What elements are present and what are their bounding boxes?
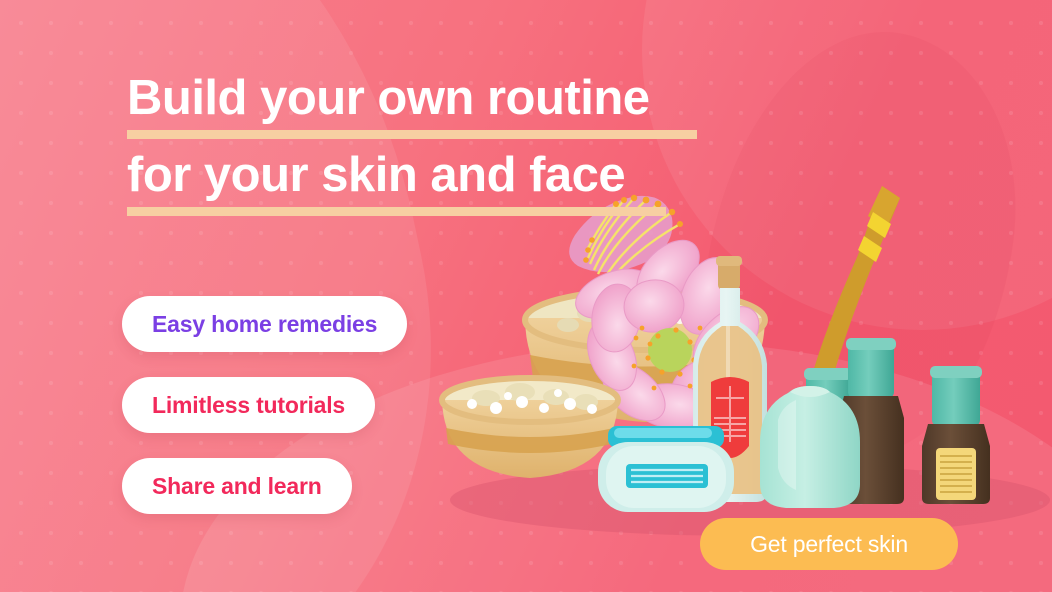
headline-rule-1: [127, 130, 697, 139]
headline-line-1: Build your own routine: [127, 70, 747, 126]
small-wooden-bowl-with-oats: [442, 378, 618, 478]
get-perfect-skin-button[interactable]: Get perfect skin: [700, 518, 958, 570]
feature-pill-share-and-learn[interactable]: Share and learn: [122, 458, 352, 514]
feature-pill-list: Easy home remedies Limitless tutorials S…: [122, 296, 407, 539]
feature-pill-label: Easy home remedies: [152, 311, 377, 338]
headline-rule-2: [127, 207, 666, 216]
headline-line-2: for your skin and face: [127, 147, 747, 203]
feature-pill-limitless-tutorials[interactable]: Limitless tutorials: [122, 377, 375, 433]
essential-oil-bottle-right: [922, 366, 990, 504]
feature-pill-label: Share and learn: [152, 473, 322, 500]
teal-cosmetic-jar: [598, 426, 734, 512]
headline: Build your own routine for your skin and…: [127, 70, 747, 224]
promo-banner: Build your own routine for your skin and…: [0, 0, 1052, 592]
feature-pill-easy-home-remedies[interactable]: Easy home remedies: [122, 296, 407, 352]
mint-pitcher: [760, 386, 860, 508]
feature-pill-label: Limitless tutorials: [152, 392, 345, 419]
